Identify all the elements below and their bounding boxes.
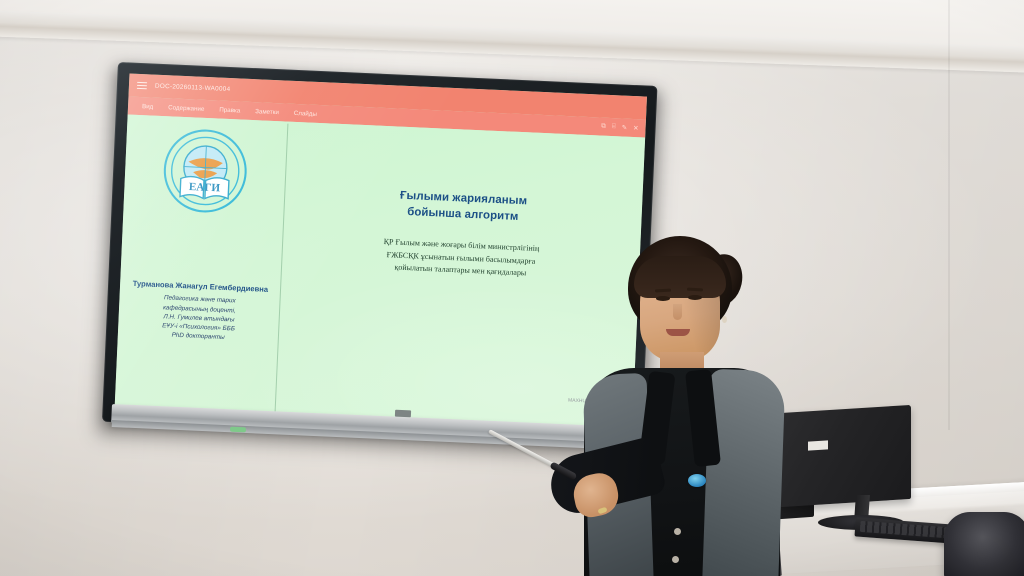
save-icon[interactable]: ⌸	[612, 123, 616, 131]
hair-fringe	[634, 256, 726, 298]
slide-title: Ғылыми жарияланым бойынша алгоритм	[399, 189, 527, 226]
presenter-credit-block: Турманова Жанагул Егембердиевна Педагоги…	[124, 279, 274, 345]
hamburger-icon[interactable]	[137, 81, 147, 89]
cast-icon[interactable]: ⧉	[601, 123, 606, 131]
presenter-name: Турманова Жанагул Егембердиевна	[132, 279, 268, 295]
slide-left-panel: ЕАГИ Турманова Жанагул Егембердиевна Пед…	[115, 114, 289, 417]
earring	[722, 316, 727, 323]
lapel-badge	[688, 474, 706, 487]
tray-center-marking	[395, 410, 411, 418]
window-controls: ⧉ ⌸ ✎ ✕	[601, 118, 639, 138]
mouth	[666, 329, 690, 336]
presenter-affiliation: Педагогика және тарих кафедрасының доцен…	[130, 292, 267, 344]
svg-text:ЕАГИ: ЕАГИ	[189, 181, 221, 194]
vest-button-lower	[672, 556, 679, 563]
eye-left	[656, 296, 670, 301]
vest-right-panel	[702, 369, 785, 576]
vest-button-upper	[674, 528, 681, 535]
close-icon[interactable]: ✕	[633, 124, 639, 132]
screenshot-root: DOC-20260113-WA0004 Вид Содержание Правк…	[0, 0, 1024, 576]
eye-right	[688, 295, 702, 300]
menu-item-contents[interactable]: Содержание	[168, 104, 204, 113]
presenter-speaker	[556, 236, 786, 576]
monitor	[780, 405, 911, 507]
slide-body: ҚР Ғылым және жоғары білім министрлігіні…	[382, 236, 539, 279]
menu-item-notes[interactable]: Заметки	[255, 108, 279, 116]
wall-seam	[948, 0, 950, 430]
tray-pen	[230, 427, 246, 433]
nose	[673, 304, 682, 320]
edit-icon[interactable]: ✎	[622, 123, 628, 131]
menu-item-view[interactable]: Вид	[142, 103, 154, 110]
menu-item-slides[interactable]: Слайды	[294, 109, 317, 117]
office-chair	[944, 512, 1024, 576]
menu-item-edit[interactable]: Правка	[219, 106, 240, 114]
monitor-sticker	[808, 440, 828, 450]
document-title: DOC-20260113-WA0004	[155, 83, 231, 93]
eagi-university-emblem-icon: ЕАГИ	[161, 126, 251, 216]
